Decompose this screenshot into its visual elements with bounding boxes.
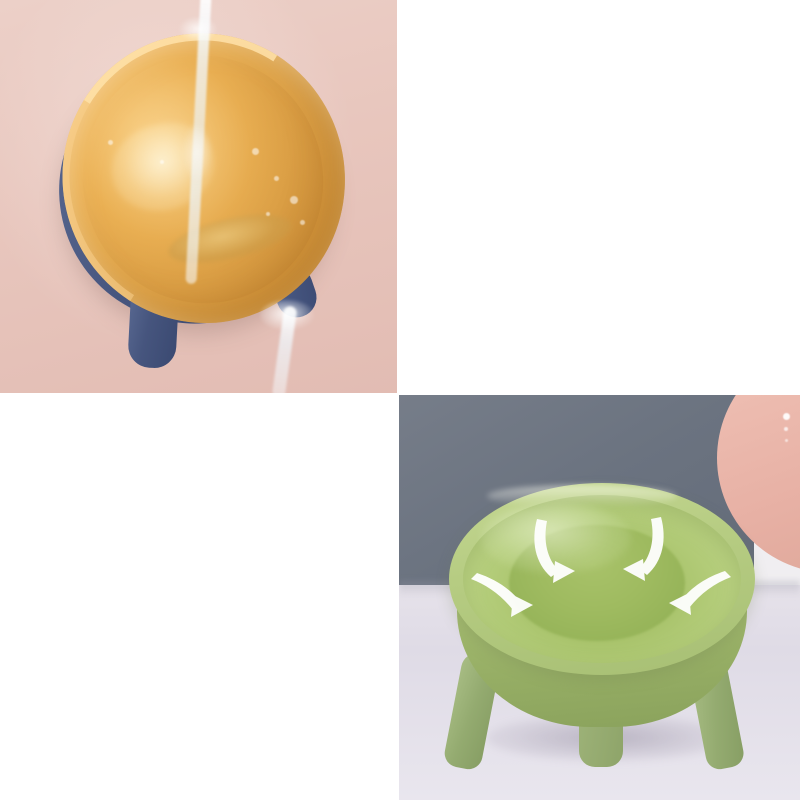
water-droplet [160, 160, 164, 164]
arrow-inward-icon [471, 573, 533, 617]
water-droplet [274, 176, 279, 181]
arrow-inward-icon [669, 571, 731, 615]
water-droplet [108, 140, 113, 145]
water-droplet [252, 148, 259, 155]
bokeh-sparkle-icon [784, 427, 788, 431]
water-droplet [300, 220, 305, 225]
bokeh-sparkle-icon [783, 413, 790, 420]
arrow-inward-icon [623, 517, 664, 581]
food-gathering-arrows [447, 483, 757, 783]
feature-panel-curved-design: Curved Design Curved bowl can gather foo… [0, 395, 397, 800]
bokeh-sparkle-icon [785, 439, 788, 442]
water-overflow-spill [262, 300, 316, 393]
arrow-inward-icon [534, 519, 575, 583]
feature-panel-easy-to-clean: Easy to clean PET material with smooth s… [399, 0, 800, 393]
product-infographic: Easy to clean PET material with smooth s… [0, 0, 800, 800]
green-elevated-bowl [447, 483, 757, 783]
curved-bowl-photo [399, 395, 800, 800]
water-droplet [290, 196, 298, 204]
water-rinse-photo [0, 0, 397, 393]
water-droplet [266, 212, 270, 216]
